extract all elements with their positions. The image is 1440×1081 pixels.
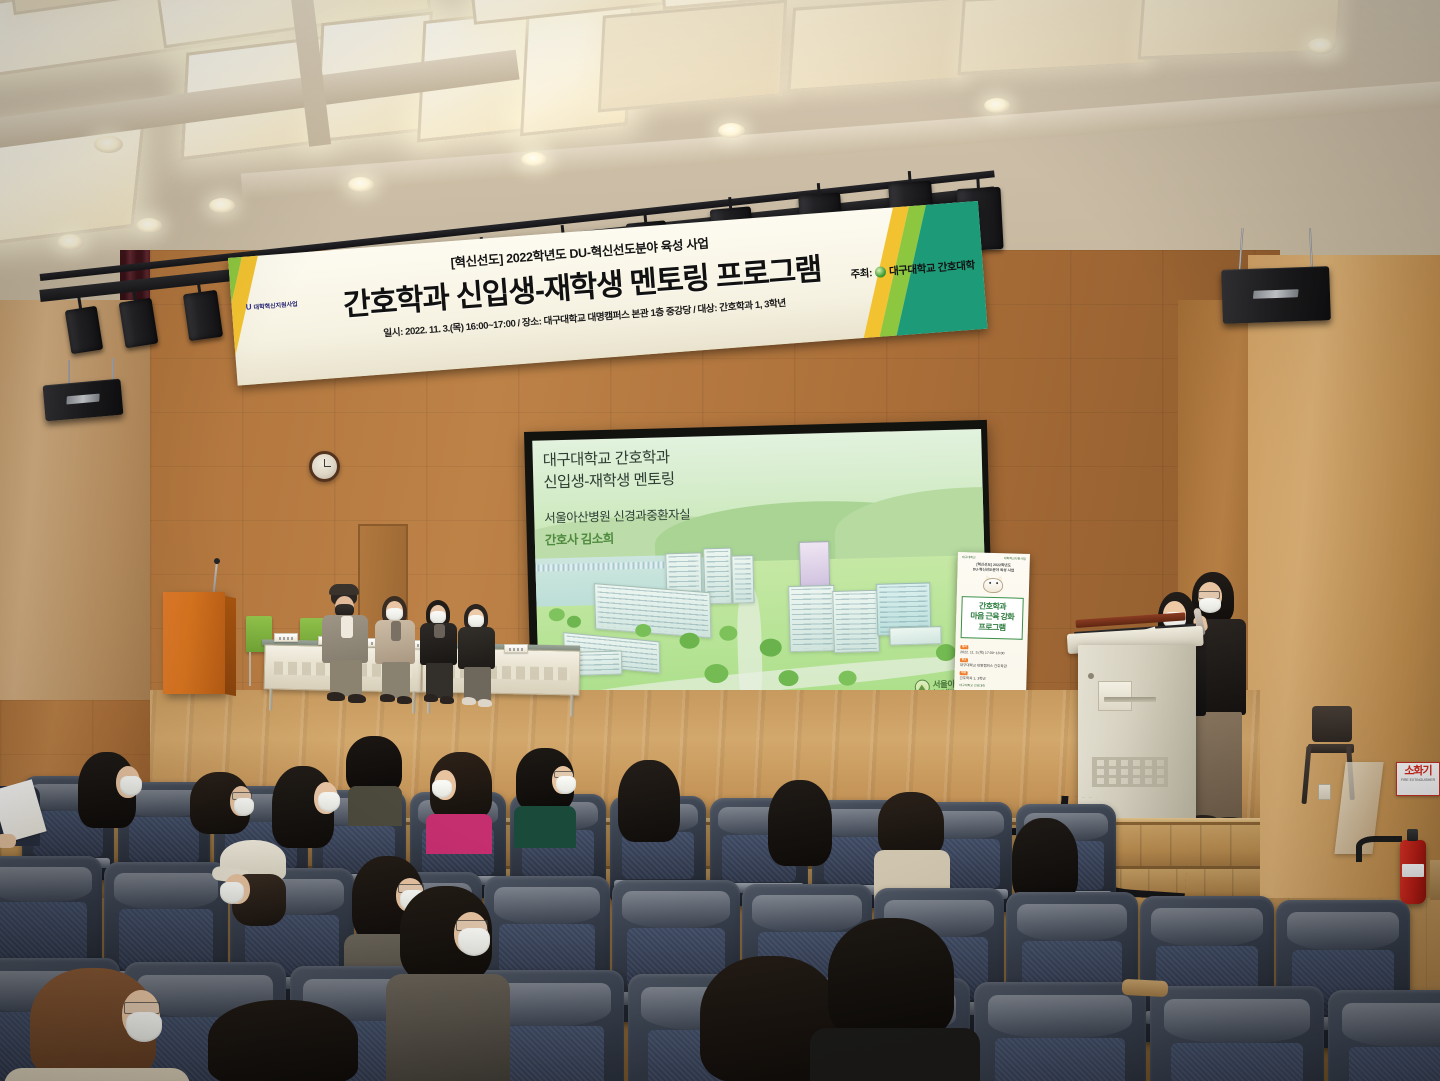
legs <box>426 663 453 698</box>
roll-banner-info-row: 일시 2022. 11. 3.(목) 17:00~18:00 <box>960 643 1022 656</box>
fire-extinguisher-sign: 소화기 FIRE EXTINGUISHER <box>1396 762 1440 796</box>
slide-text-block: 대구대학교 간호학과 신입생-재학생 멘토링 서울아산병원 신경과중환자실 간호… <box>542 447 690 549</box>
daegu-university-leaf-icon <box>875 266 887 278</box>
slide-line-4: 간호사 김소희 <box>545 526 691 549</box>
scarf <box>434 624 445 638</box>
torso <box>348 786 402 826</box>
lectern-lock-icon <box>1088 673 1094 679</box>
auditorium-seat[interactable] <box>1150 986 1324 1081</box>
face-mask <box>220 882 244 904</box>
banner-host-label: 주최: <box>850 265 873 282</box>
slide-line-2: 신입생-재학생 멘토링 <box>543 469 690 495</box>
auditorium-seat[interactable] <box>1328 990 1440 1081</box>
face-mask <box>120 776 142 796</box>
roll-banner-logo-left: 대구대학교 <box>962 555 976 559</box>
slide-building <box>731 555 754 604</box>
bose-logo <box>1253 289 1299 299</box>
face-mask <box>556 776 576 794</box>
roll-banner-host: 대구대학교 간호대학 <box>959 683 1021 689</box>
legs <box>330 660 362 696</box>
roll-banner-info-row: 대상 간호학과 1, 3학년 <box>959 669 1021 682</box>
wall-speaker <box>43 379 124 422</box>
name-card <box>504 644 528 653</box>
face-mask <box>458 928 490 956</box>
shoe <box>424 694 438 702</box>
roll-banner-info-value: 대구대학교 대명캠퍼스 간호학관 <box>960 663 1022 670</box>
slide-building <box>832 590 880 653</box>
hand <box>0 834 16 848</box>
ceiling-downlight <box>209 198 235 213</box>
ceiling-downlight <box>136 218 162 233</box>
slide-building <box>788 585 836 652</box>
shoe <box>478 699 492 707</box>
fire-sign-title: 소화기 <box>1397 766 1439 777</box>
seat-armrest <box>1430 860 1440 900</box>
speaker-chain <box>68 360 70 384</box>
roll-banner-info-value: 2022. 11. 3.(목) 17:00~18:00 <box>960 650 1022 657</box>
roll-banner-title-box: 간호학과 마음 근육 강화 프로그램 <box>961 596 1024 640</box>
slide-building <box>889 626 941 645</box>
torso <box>426 814 492 854</box>
stage-light <box>119 298 159 349</box>
ceiling-downlight <box>984 98 1010 113</box>
torso <box>458 627 495 669</box>
lectern-vent <box>1092 757 1168 787</box>
hair <box>768 780 832 866</box>
legs <box>382 662 410 698</box>
inner-top <box>391 621 401 641</box>
ceiling-downlight <box>718 123 745 138</box>
ceiling-downlight <box>57 234 84 250</box>
seat-armrest <box>1122 979 1169 997</box>
roll-banner-info-tag: 대상 <box>960 671 968 676</box>
ceiling-skylight-panel <box>787 0 967 92</box>
stage-light <box>183 290 223 341</box>
shoe <box>348 694 366 703</box>
hair <box>828 918 954 1038</box>
roll-banner-subtitle-2: DU-혁신선도분야 육성 사업 <box>957 567 1029 574</box>
hair <box>878 792 944 858</box>
shoe <box>462 697 476 705</box>
slide-line-3: 서울아산병원 신경과중환자실 <box>544 504 690 527</box>
ceiling-downlight <box>94 136 123 153</box>
projection-screen: 대구대학교 간호학과 신입생-재학생 멘토링 서울아산병원 신경과중환자실 간호… <box>532 429 988 710</box>
hair <box>1012 818 1078 902</box>
face-mask <box>1199 598 1221 613</box>
hair <box>208 1000 358 1081</box>
lectern-control-panel[interactable] <box>1098 681 1132 711</box>
ceiling-skylight-panel <box>957 0 1152 75</box>
projection-screen-frame: 대구대학교 간호학과 신입생-재학생 멘토링 서울아산병원 신경과중환자실 간호… <box>524 420 994 720</box>
wall-speaker-bose <box>1221 266 1331 324</box>
cap-icon <box>329 584 359 595</box>
wooden-podium <box>163 592 225 694</box>
roll-banner-info-list: 일시 2022. 11. 3.(목) 17:00~18:00 장소 대구대학교 … <box>954 640 1027 683</box>
roll-banner-title-3: 프로그램 <box>963 622 1021 634</box>
hair <box>618 760 680 842</box>
torso <box>810 1028 980 1081</box>
roll-banner-info-row: 장소 대구대학교 대명캠퍼스 간호학관 <box>960 656 1022 669</box>
shirt <box>341 616 353 638</box>
fire-hose <box>1356 836 1402 862</box>
cat-mascot-icon <box>979 574 1008 595</box>
ceiling-skylight-panel <box>598 0 787 112</box>
shoe <box>440 696 454 704</box>
face-mask <box>126 1012 162 1042</box>
auditorium-seat[interactable] <box>974 982 1146 1081</box>
shoe <box>397 696 412 704</box>
fire-extinguisher[interactable] <box>1400 840 1426 904</box>
torso <box>4 1068 190 1081</box>
face-mask <box>234 798 254 816</box>
auditorium-photo: U 대학혁신지원사업 [혁신선도] 2022학년도 DU-혁신선도분야 육성 사… <box>0 0 1440 1081</box>
face-mask <box>318 792 340 812</box>
roll-banner-logo-right: 대학혁신지원사업 <box>1004 556 1026 561</box>
torso <box>514 806 576 848</box>
name-card <box>274 633 298 642</box>
shoe <box>327 692 345 701</box>
ceiling-downlight <box>348 177 374 192</box>
legs <box>1192 712 1242 820</box>
fire-extinguisher-label <box>1402 864 1424 877</box>
stage-light <box>65 306 103 354</box>
wall-clock <box>309 451 340 482</box>
roll-banner-info-tag: 일시 <box>960 645 968 650</box>
slide-building <box>594 583 711 638</box>
ceiling-downlight <box>1307 38 1335 54</box>
roll-banner-info-value: 간호학과 1, 3학년 <box>959 676 1021 683</box>
torso <box>386 974 510 1081</box>
ceiling-downlight <box>521 152 548 167</box>
legs <box>464 667 491 701</box>
face-mask <box>432 780 452 798</box>
lectern-slot <box>1104 697 1156 702</box>
roll-banner-info-tag: 장소 <box>960 658 968 663</box>
fire-sign-subtitle: FIRE EXTINGUISHER <box>1397 778 1439 782</box>
shoe <box>380 694 395 702</box>
